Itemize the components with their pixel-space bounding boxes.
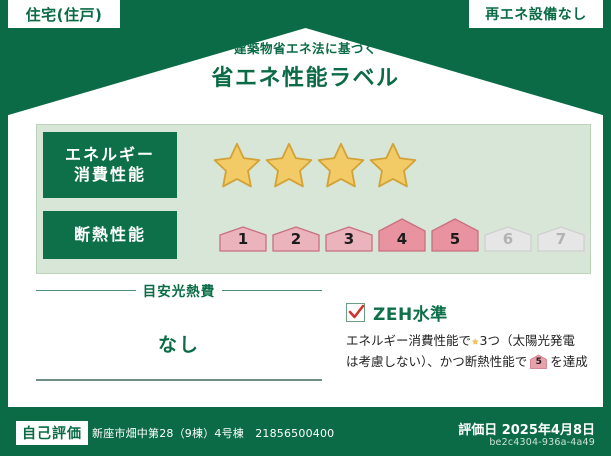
insulation-level-number: 4 xyxy=(378,230,426,248)
insulation-level-3: 3 xyxy=(325,218,373,252)
star-icon-filled xyxy=(317,141,365,189)
label-footer: 自己評価 新座市畑中第28（9棟）4号棟 21856500400 評価日 202… xyxy=(0,407,611,456)
label-subtitle: 建築物省エネ法に基づく xyxy=(8,38,603,57)
checkbox-icon xyxy=(346,303,365,322)
energy-tag-line1: エネルギー xyxy=(65,145,155,165)
insulation-level-1: 1 xyxy=(219,218,267,252)
insulation-level-number: 2 xyxy=(272,230,320,248)
status-badge: 自己評価 xyxy=(16,421,88,445)
cost-rule-right xyxy=(222,290,322,291)
zeh-line2-text-a: は考慮しない）、かつ断熱性能で xyxy=(346,352,527,373)
insulation-level-number: 1 xyxy=(219,230,267,248)
insulation-level-number: 7 xyxy=(537,230,585,248)
insulation-level-2: 2 xyxy=(272,218,320,252)
zeh-title: ZEH水準 xyxy=(373,300,448,325)
zeh-description-line2: は考慮しない）、かつ断熱性能で 5 を達成 xyxy=(346,352,575,373)
label-body-panel: 建築物省エネ法に基づく 省エネ性能ラベル エネルギー 消費性能 断熱性能 123… xyxy=(8,28,603,407)
zeh-line2-text-b: を達成 xyxy=(550,352,588,373)
energy-performance-row: エネルギー 消費性能 xyxy=(37,131,590,199)
insulation-tag-label: 断熱性能 xyxy=(74,225,146,245)
page-title: 省エネ性能ラベル xyxy=(8,60,603,92)
zeh-description: エネルギー消費性能で 3つ（太陽光発電 は考慮しない）、かつ断熱性能で 5 xyxy=(346,331,575,372)
zeh-heading: ZEH水準 xyxy=(346,300,575,325)
zeh-line1-text-a: エネルギー消費性能で xyxy=(346,331,471,352)
evaluation-date: 評価日 2025年4月8日 xyxy=(458,419,595,438)
tab-renewable-status: 再エネ設備なし xyxy=(469,0,603,28)
star-icon xyxy=(472,334,479,349)
insulation-badge-icon: 5 xyxy=(530,354,547,369)
insulation-level-6: 6 xyxy=(484,218,532,252)
star-icon-filled xyxy=(369,141,417,189)
utility-cost-heading-label: 目安光熱費 xyxy=(136,280,223,300)
star-icon-filled xyxy=(213,141,261,189)
energy-tag-line2: 消費性能 xyxy=(74,165,146,185)
utility-cost-underline xyxy=(36,379,322,381)
utility-cost-heading: 目安光熱費 xyxy=(36,280,322,300)
star-icon-filled xyxy=(265,141,313,189)
insulation-level-7: 7 xyxy=(537,218,585,252)
property-identifier: 新座市畑中第28（9棟）4号棟 21856500400 xyxy=(92,425,334,441)
insulation-level-scale: 1234567 xyxy=(219,218,585,252)
zeh-description-line1: エネルギー消費性能で 3つ（太陽光発電 xyxy=(346,331,575,352)
utility-cost-block: 目安光熱費 なし xyxy=(36,280,322,381)
energy-performance-label: 住宅(住戸) 再エネ設備なし 建築物省エネ法に基づく 省エネ性能ラベル エネルギ… xyxy=(0,0,611,456)
tab-renewable-label: 再エネ設備なし xyxy=(485,4,587,24)
tab-housing-label: 住宅(住戸) xyxy=(26,4,103,25)
energy-star-rating xyxy=(213,141,417,189)
document-hash: be2c4304-936a-4a49 xyxy=(489,437,595,448)
insulation-level-4: 4 xyxy=(378,218,426,252)
insulation-level-number: 6 xyxy=(484,230,532,248)
performance-panel: エネルギー 消費性能 断熱性能 1234567 xyxy=(36,124,591,274)
cost-rule-left xyxy=(36,290,136,291)
insulation-level-5: 5 xyxy=(431,218,479,252)
insulation-performance-tag: 断熱性能 xyxy=(43,211,177,259)
zeh-block: ZEH水準 エネルギー消費性能で 3つ（太陽光発電 は考慮しない）、かつ断熱性能… xyxy=(346,300,575,372)
insulation-level-number: 3 xyxy=(325,230,373,248)
insulation-level-number: 5 xyxy=(431,230,479,248)
zeh-line1-text-b: 3つ（太陽光発電 xyxy=(480,331,575,352)
energy-performance-tag: エネルギー 消費性能 xyxy=(43,132,177,198)
tab-housing-type: 住宅(住戸) xyxy=(8,0,120,28)
utility-cost-value: なし xyxy=(36,330,322,357)
insulation-performance-row: 断熱性能 1234567 xyxy=(37,207,590,263)
lower-section: 目安光熱費 なし ZEH水準 エネルギー消費性能で xyxy=(36,280,575,407)
title-block: 建築物省エネ法に基づく 省エネ性能ラベル xyxy=(8,38,603,92)
insulation-badge-number: 5 xyxy=(530,355,547,370)
